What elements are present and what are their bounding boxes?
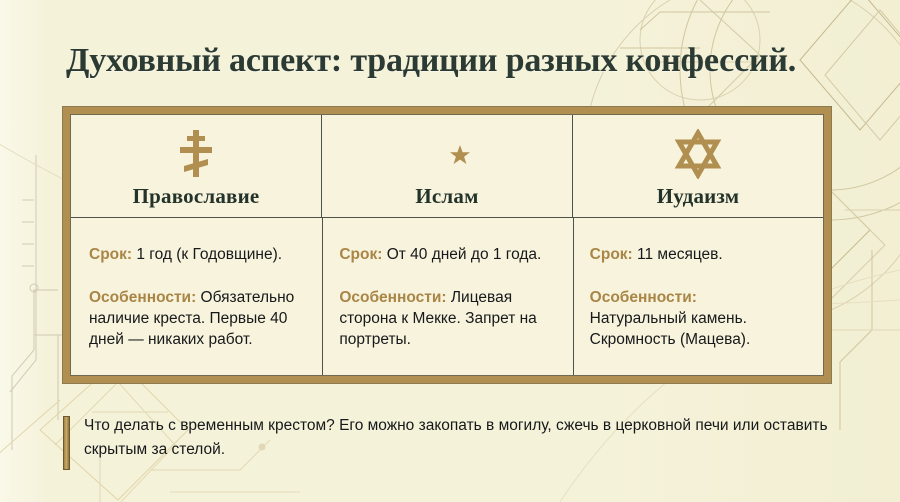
table-cell-orthodoxy: Срок: 1 год (к Годовщине). Особенности: …	[71, 218, 322, 375]
crescent-star-icon	[424, 125, 470, 183]
table-header-row: Православие Ислам	[71, 115, 823, 218]
table-header-label-judaism: Иудаизм	[657, 184, 740, 209]
term-line-orthodoxy: Срок: 1 год (к Годовщине).	[89, 244, 308, 265]
footer-note: Что делать с временным крестом? Его можн…	[63, 414, 853, 470]
term-value: От 40 дней до 1 года.	[382, 246, 541, 263]
term-label: Срок:	[590, 246, 633, 263]
table-cell-islam: Срок: От 40 дней до 1 года. Особенности:…	[322, 218, 572, 375]
term-label: Срок:	[89, 246, 132, 263]
features-line-orthodoxy: Особенности: Обязательно наличие креста.…	[89, 287, 308, 350]
features-line-islam: Особенности: Лицевая сторона к Мекке. За…	[339, 287, 558, 350]
term-value: 1 год (к Годовщине).	[132, 246, 282, 263]
features-value: Натуральный камень. Скромность (Мацева).	[590, 310, 751, 348]
table-header-label-islam: Ислам	[415, 184, 478, 209]
footer-note-text: Что делать с временным крестом? Его можн…	[84, 414, 844, 462]
table-header-cell-judaism: Иудаизм	[572, 115, 823, 217]
star-of-david-icon	[673, 125, 723, 183]
term-line-judaism: Срок: 11 месяцев.	[590, 244, 809, 265]
features-label: Особенности:	[89, 289, 196, 306]
orthodox-cross-icon	[178, 125, 214, 183]
table-header-label-orthodoxy: Православие	[133, 184, 260, 209]
term-value: 11 месяцев.	[633, 246, 723, 263]
background-left-band	[0, 0, 48, 502]
term-line-islam: Срок: От 40 дней до 1 года.	[339, 244, 558, 265]
page-title: Духовный аспект: традиции разных конфесс…	[66, 41, 796, 81]
table-body-row: Срок: 1 год (к Годовщине). Особенности: …	[71, 218, 823, 375]
features-label: Особенности:	[339, 289, 446, 306]
slide-canvas: Духовный аспект: традиции разных конфесс…	[0, 0, 900, 502]
features-line-judaism: Особенности:Натуральный камень. Скромнос…	[590, 287, 809, 350]
footer-accent-bar	[63, 416, 70, 470]
table-header-cell-islam: Ислам	[321, 115, 572, 217]
traditions-table-inner: Православие Ислам	[70, 114, 824, 376]
table-header-cell-orthodoxy: Православие	[71, 115, 321, 217]
table-cell-judaism: Срок: 11 месяцев. Особенности:Натуральны…	[573, 218, 823, 375]
term-label: Срок:	[339, 246, 382, 263]
features-label: Особенности:	[590, 289, 697, 306]
traditions-table: Православие Ислам	[62, 106, 832, 384]
